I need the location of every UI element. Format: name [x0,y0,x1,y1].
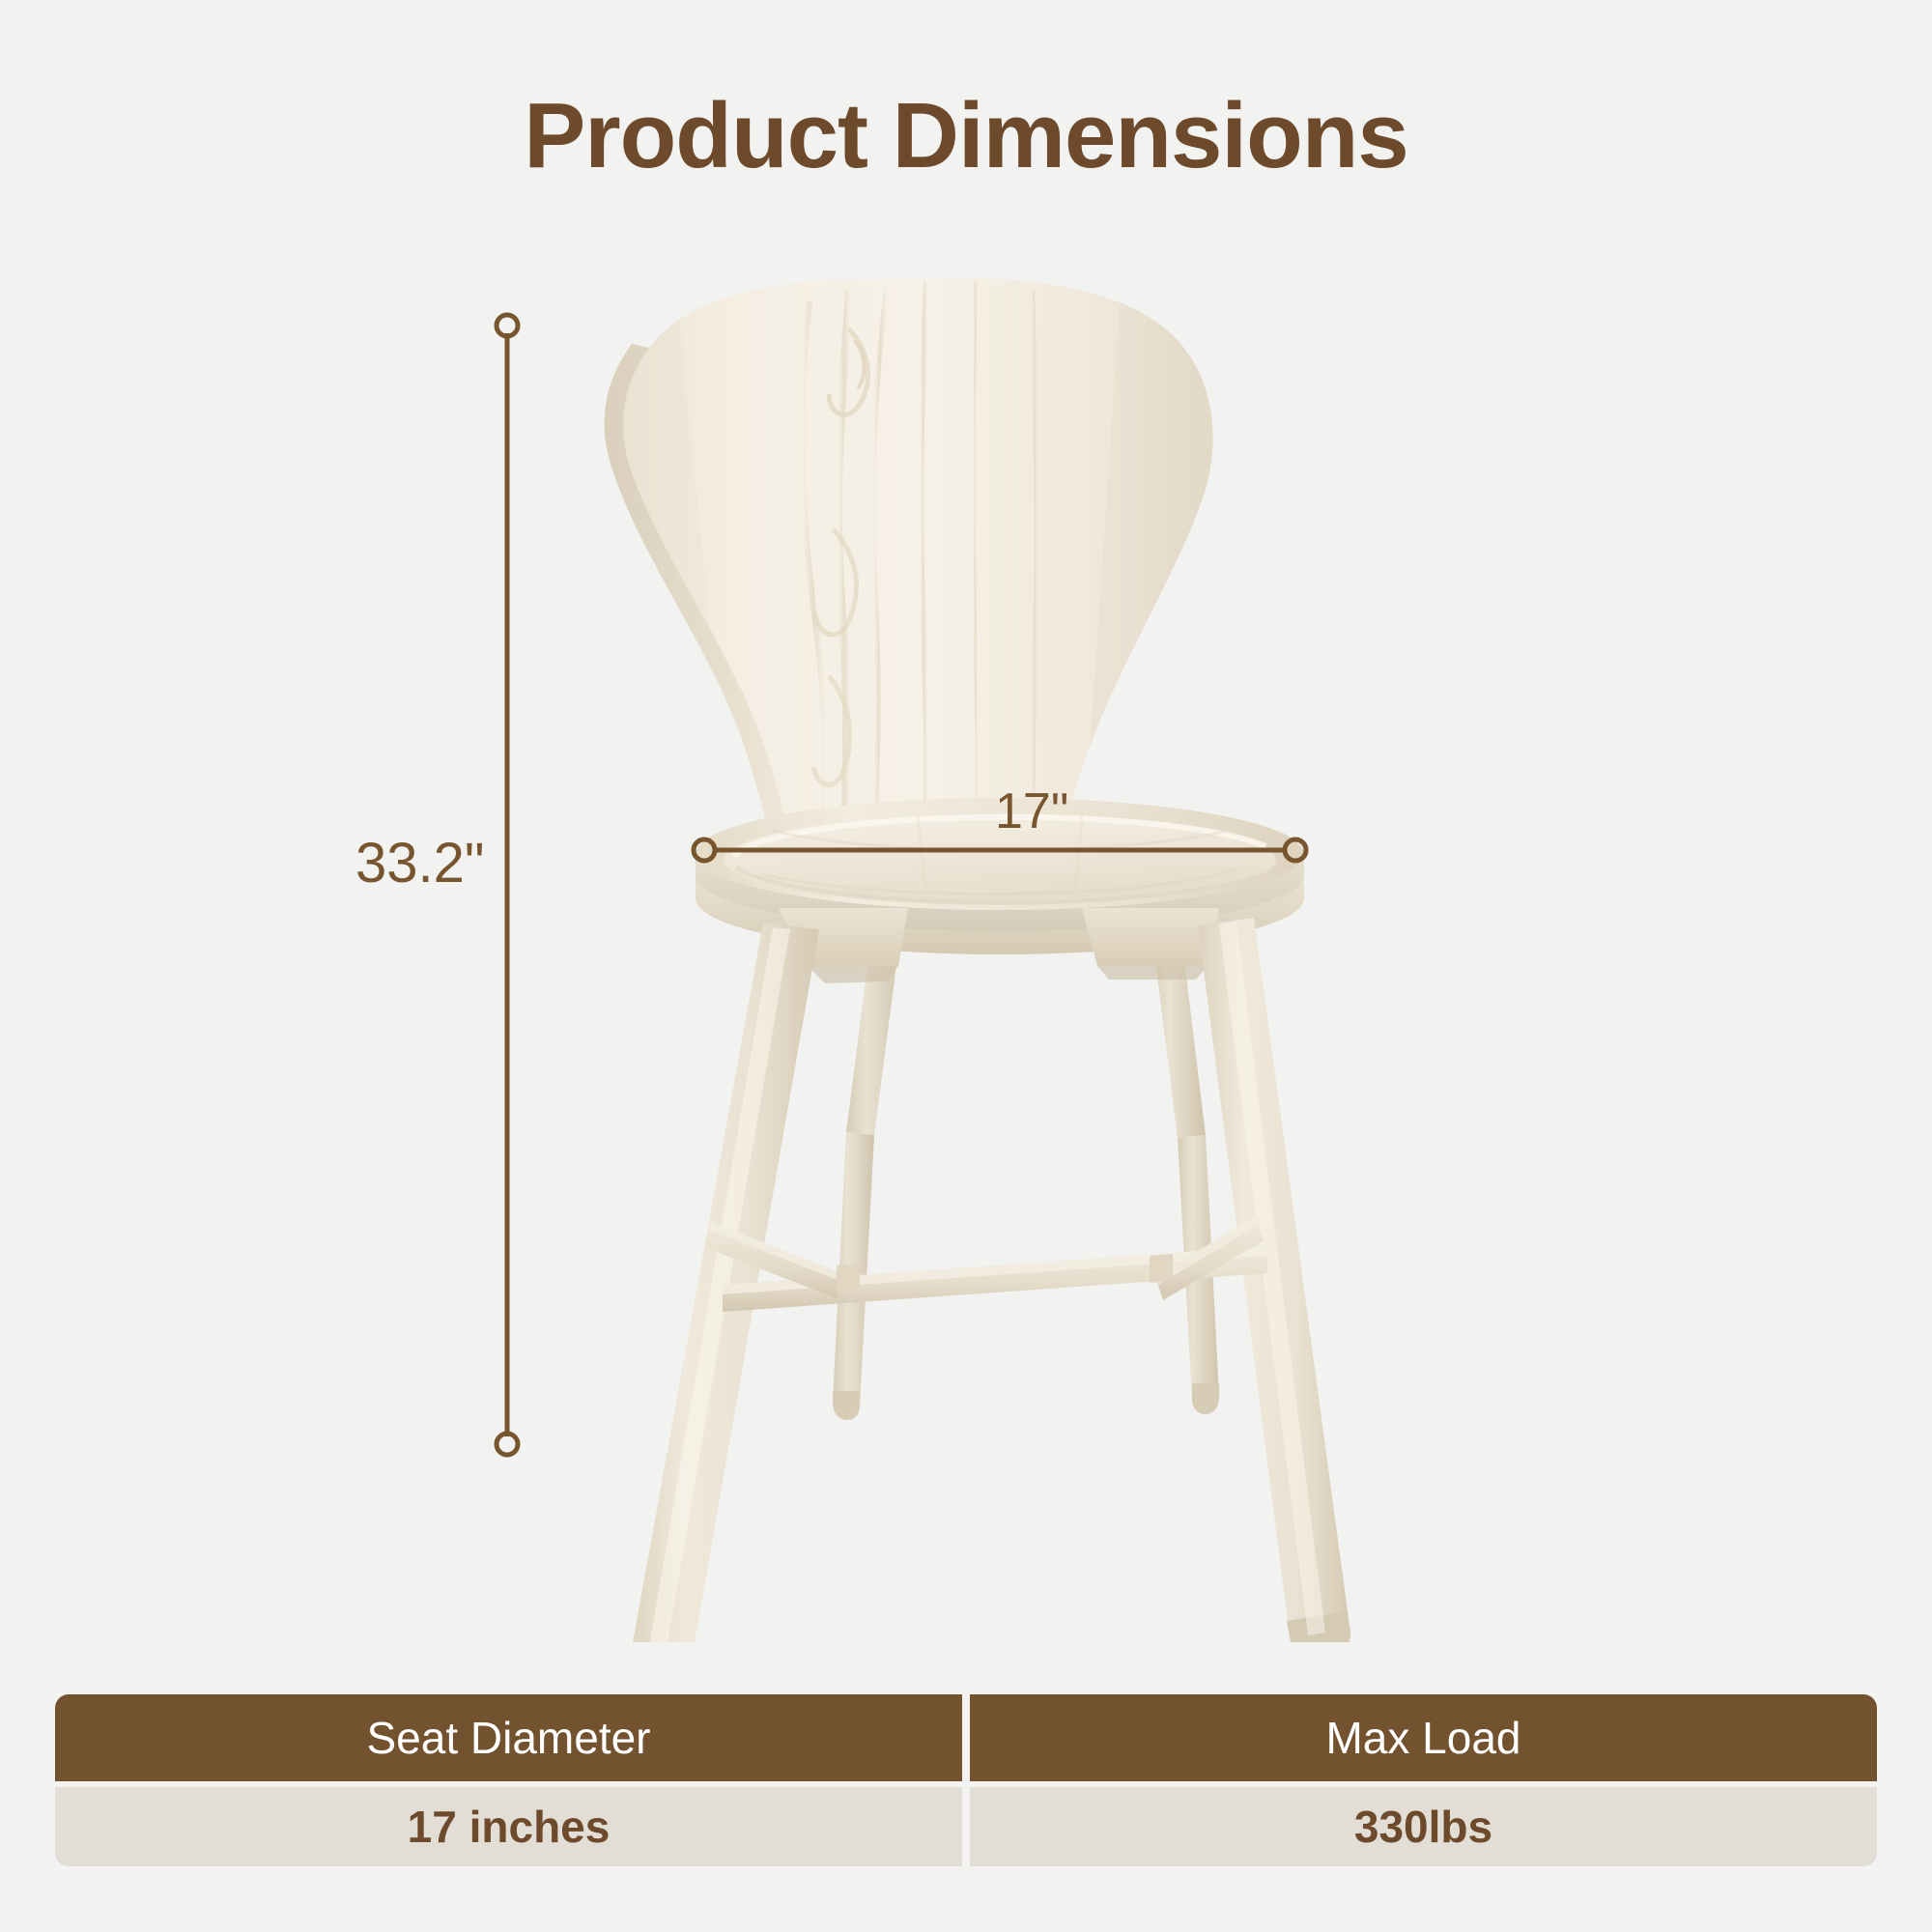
chair-back-legs [833,913,1219,1420]
chair-illustration: 33.2" 17" [0,0,1932,1642]
spec-value-max-load: 330lbs [970,1787,1877,1866]
dimension-label-seat-diameter: 17" [995,782,1068,840]
spec-value-seat-diameter: 17 inches [55,1787,962,1866]
spec-header-max-load: Max Load [970,1694,1877,1781]
chair-svg [0,0,1932,1642]
product-dimensions-page: Product Dimensions [0,0,1932,1932]
chair-backrest [605,278,1227,869]
spec-table: Seat Diameter Max Load 17 inches 330lbs [55,1694,1877,1866]
spec-table-value-row: 17 inches 330lbs [55,1787,1877,1866]
spec-header-seat-diameter: Seat Diameter [55,1694,962,1781]
dimension-label-height: 33.2" [355,831,484,895]
dimension-line-height [497,315,518,1455]
spec-table-header-row: Seat Diameter Max Load [55,1694,1877,1781]
